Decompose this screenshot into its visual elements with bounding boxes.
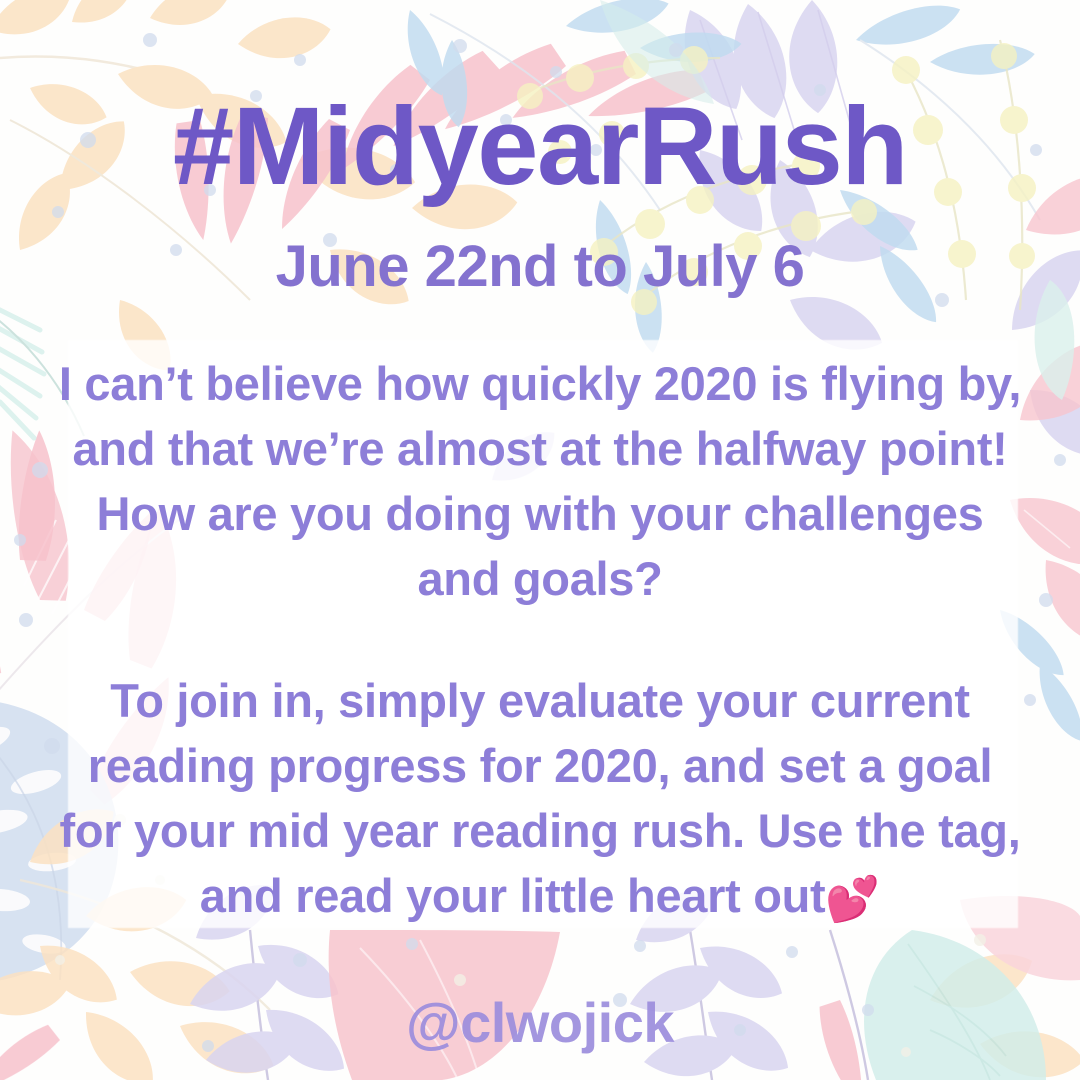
date-range-subtitle: June 22nd to July 6 — [0, 238, 1080, 296]
paragraph-instructions: To join in, simply evaluate your current… — [52, 669, 1028, 930]
two-hearts-icon: 💕 — [825, 875, 880, 924]
page-title: #MidyearRush — [0, 92, 1080, 202]
paragraph-intro: I can’t believe how quickly 2020 is flyi… — [52, 352, 1028, 611]
body-copy: I can’t believe how quickly 2020 is flyi… — [52, 352, 1028, 931]
paragraph-spacer — [52, 611, 1028, 669]
instagram-post-graphic: #MidyearRush June 22nd to July 6 I can’t… — [0, 0, 1080, 1080]
author-handle: @clwojick — [0, 995, 1080, 1051]
poster-content: #MidyearRush June 22nd to July 6 I can’t… — [0, 0, 1080, 1080]
